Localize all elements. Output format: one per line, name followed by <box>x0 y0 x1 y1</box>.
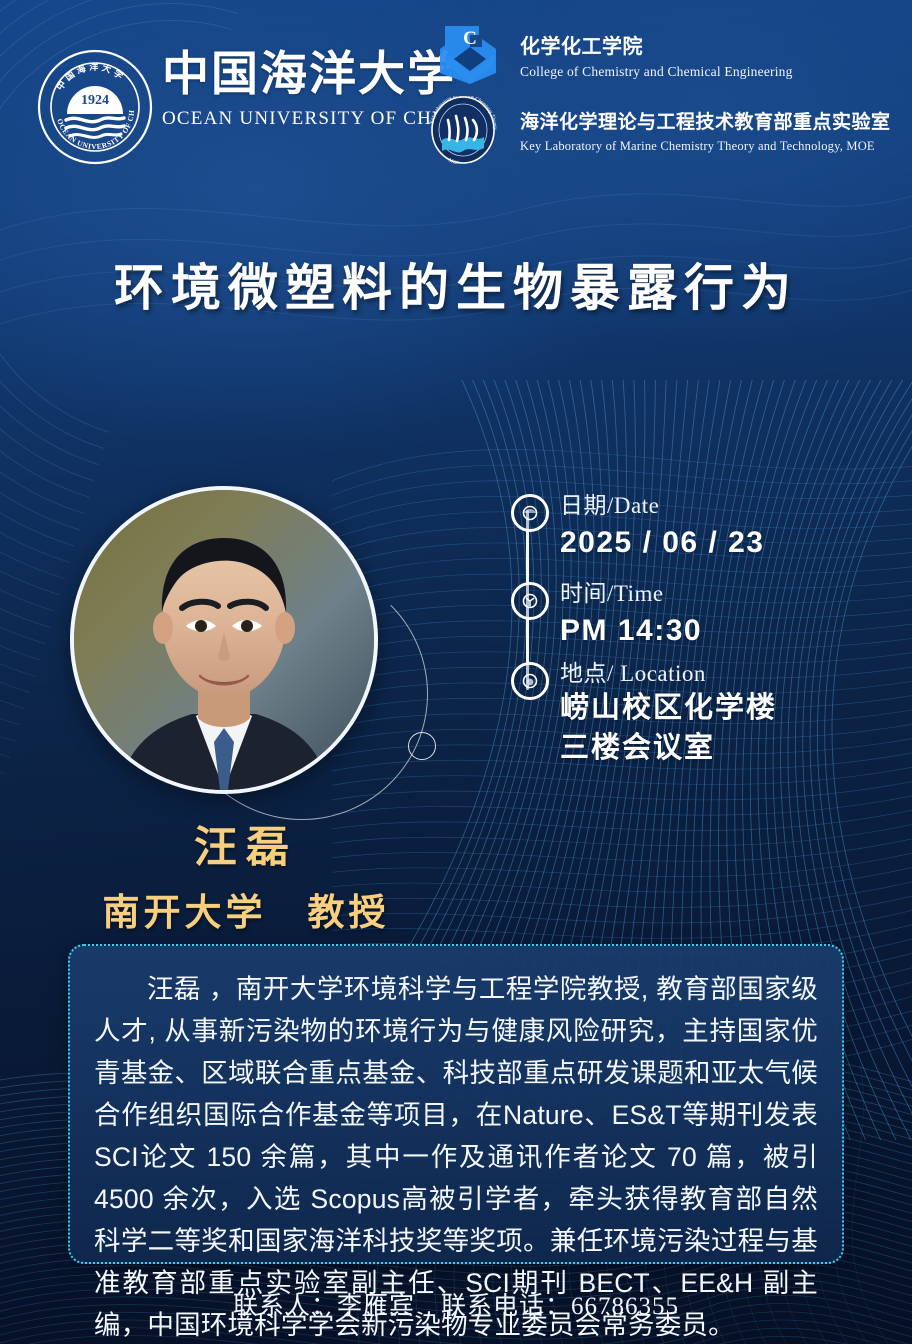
speaker-name: 汪磊 <box>0 826 492 872</box>
info-row-date: 日期/Date 2025 / 06 / 23 <box>505 492 905 562</box>
college-unit: C 化学化工学院 College of Chemistry and Chemic… <box>434 22 793 88</box>
location-value-line2: 三楼会议室 <box>560 730 905 768</box>
university-name-cn: 中国海洋大学 <box>162 52 462 99</box>
time-value: PM 14:30 <box>560 611 905 650</box>
info-row-location: 地点/ Location 崂山校区化学楼 三楼会议室 <box>505 660 905 768</box>
info-row-time: 时间/Time PM 14:30 <box>505 580 905 650</box>
speaker-photo <box>70 486 378 794</box>
ccce-logo-icon: C <box>434 22 506 88</box>
time-label: 时间/Time <box>560 580 905 609</box>
phone-number: 66786355 <box>571 1293 679 1320</box>
contact-footer: 联系人：李雁宾联系电话：66786355 <box>0 1286 912 1322</box>
college-name-en: College of Chemistry and Chemical Engine… <box>520 64 793 80</box>
speaker-portrait-block <box>64 482 420 812</box>
location-label: 地点/ Location <box>560 660 905 689</box>
contact-name: 李雁宾 <box>337 1293 415 1320</box>
speaker-affiliation: 南开大学 教授 <box>0 882 492 936</box>
phone-label: 联系电话： <box>441 1293 571 1320</box>
event-info-timeline: 日期/Date 2025 / 06 / 23 时间/Time PM 14:30 … <box>505 492 905 772</box>
lab-unit: Key Laboratory of Marine Chemistry Theor… <box>420 96 891 164</box>
decorative-circle <box>408 732 436 760</box>
location-value-line1: 崂山校区化学楼 <box>560 690 905 728</box>
university-name-en: OCEAN UNIVERSITY OF CHINA <box>162 108 462 130</box>
location-marker-icon <box>511 662 549 700</box>
contact-label: 联系人： <box>233 1293 337 1320</box>
speaker-biography-box: 汪磊 ，南开大学环境科学与工程学院教授, 教育部国家级人才, 从事新污染物的环境… <box>68 944 844 1264</box>
poster-header: 1924 中国海洋大学 OCEAN UNIVERSITY OF CHINA 中国… <box>0 0 912 170</box>
svg-text:C: C <box>463 28 477 49</box>
college-name-cn: 化学化工学院 <box>520 30 793 59</box>
clock-marker-icon <box>511 582 549 620</box>
university-name-block: 中国海洋大学 OCEAN UNIVERSITY OF CHINA <box>162 52 462 130</box>
poster-title: 环境微塑料的生物暴露行为 <box>0 248 912 320</box>
seminar-poster: 1924 中国海洋大学 OCEAN UNIVERSITY OF CHINA 中国… <box>0 0 912 1344</box>
marine-chemistry-lab-logo-icon: Key Laboratory of Marine Chemistry Theor… <box>420 96 506 164</box>
speaker-photo-illustration <box>74 490 374 790</box>
date-value: 2025 / 06 / 23 <box>560 523 905 562</box>
speaker-info: 汪磊 南开大学 教授 <box>0 826 492 936</box>
lab-name-en: Key Laboratory of Marine Chemistry Theor… <box>520 139 891 154</box>
calendar-marker-icon <box>511 494 549 532</box>
svg-text:1924: 1924 <box>81 93 109 108</box>
lab-name-cn: 海洋化学理论与工程技术教育部重点实验室 <box>520 107 891 134</box>
ocean-university-seal-icon: 1924 中国海洋大学 OCEAN UNIVERSITY OF CHINA <box>36 48 154 166</box>
date-label: 日期/Date <box>560 492 905 521</box>
